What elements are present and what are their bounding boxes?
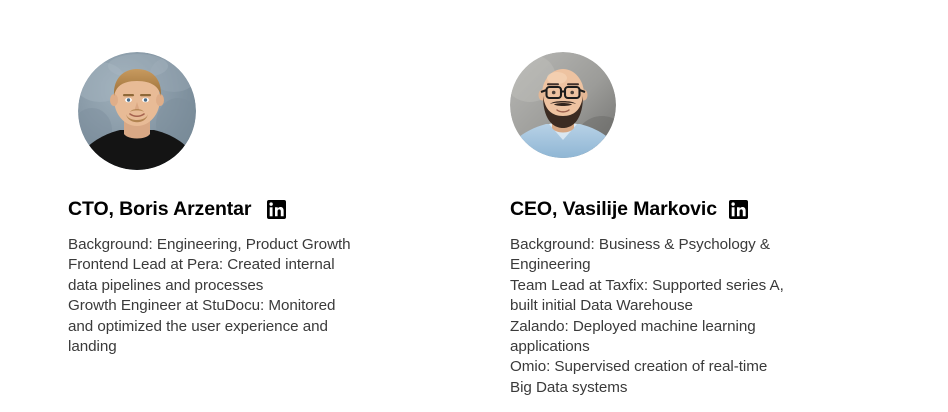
bio-line: Omio: Supervised creation of real-time bbox=[510, 357, 860, 377]
profile-bio-vasilije-markovic: Background: Business & Psychology & Engi… bbox=[510, 235, 860, 398]
bio-line: Growth Engineer at StuDocu: Monitored bbox=[68, 296, 413, 316]
linkedin-icon[interactable] bbox=[729, 200, 748, 219]
bio-line: Frontend Lead at Pera: Created internal bbox=[68, 255, 413, 275]
profile-heading-boris-arzentar: CTO, Boris Arzentar bbox=[68, 200, 286, 220]
bio-line: built initial Data Warehouse bbox=[510, 296, 860, 316]
bio-line: and optimized the user experience and bbox=[68, 317, 413, 337]
profile-bio-boris-arzentar: Background: Engineering, Product Growth … bbox=[68, 235, 413, 357]
bio-line: Team Lead at Taxfix: Supported series A, bbox=[510, 276, 860, 296]
bio-line: Background: Business & Psychology & bbox=[510, 235, 860, 255]
profile-name-vasilije-markovic: CEO, Vasilije Markovic bbox=[510, 200, 717, 220]
bio-line: applications bbox=[510, 337, 860, 357]
linkedin-icon[interactable] bbox=[267, 200, 286, 219]
bio-line: data pipelines and processes bbox=[68, 276, 413, 296]
bio-line: landing bbox=[68, 337, 413, 357]
profile-name-boris-arzentar: CTO, Boris Arzentar bbox=[68, 200, 251, 220]
bio-line: Zalando: Deployed machine learning bbox=[510, 317, 860, 337]
bio-line: Big Data systems bbox=[510, 378, 860, 398]
bio-line: Background: Engineering, Product Growth bbox=[68, 235, 413, 255]
avatar-boris-arzentar bbox=[78, 52, 196, 170]
avatar-vasilije-markovic bbox=[510, 52, 616, 158]
profile-heading-vasilije-markovic: CEO, Vasilije Markovic bbox=[510, 200, 748, 220]
profile-card-boris-arzentar: CTO, Boris Arzentar Background: Engineer… bbox=[68, 52, 468, 170]
profile-card-vasilije-markovic: CEO, Vasilije Markovic Background: Busin… bbox=[510, 52, 910, 158]
team-profiles-section: CTO, Boris Arzentar Background: Engineer… bbox=[0, 0, 948, 412]
bio-line: Engineering bbox=[510, 255, 860, 275]
